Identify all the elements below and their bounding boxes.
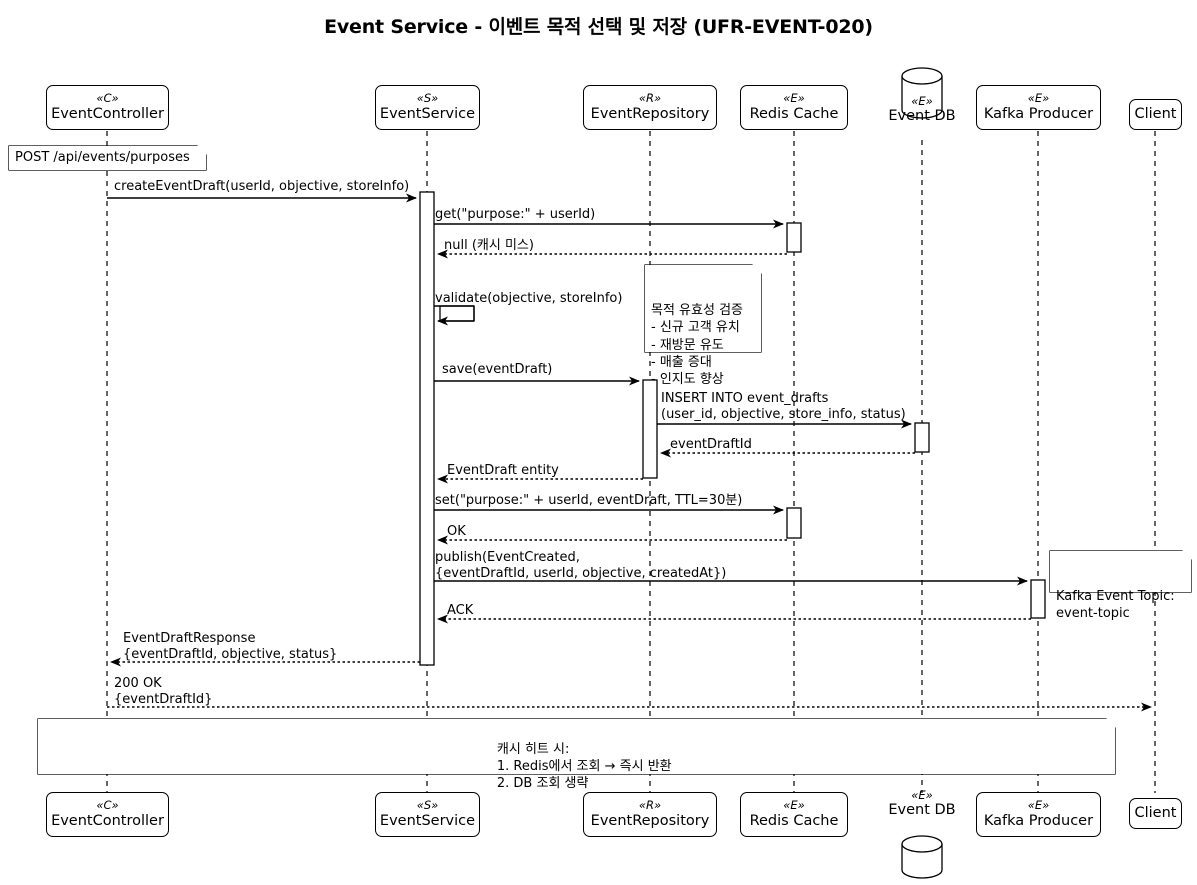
participant-kafka-top[interactable]: «E» Kafka Producer xyxy=(976,85,1101,130)
participant-kafka-bottom[interactable]: «E» Kafka Producer xyxy=(976,792,1101,837)
participant-stereotype: «E» xyxy=(862,789,982,802)
participant-name: Client xyxy=(1135,805,1177,822)
participant-name: Redis Cache xyxy=(750,106,839,123)
participant-stereotype: «E» xyxy=(1028,799,1049,812)
participant-stereotype: «R» xyxy=(639,92,661,105)
participant-controller-bottom[interactable]: «C» EventController xyxy=(46,792,169,837)
participant-name: Kafka Producer xyxy=(984,813,1093,830)
message-label-save: save(eventDraft) xyxy=(442,362,552,378)
participant-client-bottom[interactable]: Client xyxy=(1129,798,1182,829)
participant-name: EventService xyxy=(380,106,475,123)
note-cache-text: 캐시 히트 시: 1. Redis에서 조회 → 즉시 반환 2. DB 조회 … xyxy=(497,741,672,792)
message-label-validate: validate(objective, storeInfo) xyxy=(435,291,622,307)
participant-name: EventRepository xyxy=(591,106,710,123)
activation-service-self xyxy=(440,306,474,321)
message-label-ok: OK xyxy=(447,524,466,540)
message-label-redis-get: get("purpose:" + userId) xyxy=(435,207,595,223)
participant-controller-top[interactable]: «C» EventController xyxy=(46,85,169,130)
note-kafka-topic: Kafka Event Topic: event-topic xyxy=(1050,551,1191,592)
participant-stereotype: «C» xyxy=(96,92,118,105)
activation-redis-1 xyxy=(787,223,801,252)
note-post-text: POST /api/events/purposes xyxy=(15,149,190,166)
participant-service-top[interactable]: «S» EventService xyxy=(375,85,480,130)
message-label-publish: publish(EventCreated, {eventDraftId, use… xyxy=(435,550,726,582)
participant-stereotype: «E» xyxy=(862,95,982,108)
participant-stereotype: «S» xyxy=(417,799,439,812)
participant-stereotype: «S» xyxy=(417,92,439,105)
sequence-diagram: Event Service - 이벤트 목적 선택 및 저장 (UFR-EVEN… xyxy=(0,0,1197,885)
message-label-cache-miss: null (캐시 미스) xyxy=(444,238,534,254)
participant-name: Event DB xyxy=(862,108,982,125)
message-label-200-ok: 200 OK {eventDraftId} xyxy=(114,676,212,708)
participant-stereotype: «E» xyxy=(783,92,804,105)
activation-kafka-1 xyxy=(1031,580,1045,618)
participant-name: EventService xyxy=(380,813,475,830)
lifelines xyxy=(107,131,1155,793)
message-label-event-draft-id: eventDraftId xyxy=(670,437,752,453)
note-cache-hit: 캐시 히트 시: 1. Redis에서 조회 → 즉시 반환 2. DB 조회 … xyxy=(38,719,1115,774)
participant-stereotype: «R» xyxy=(639,799,661,812)
participant-name: Kafka Producer xyxy=(984,106,1093,123)
participant-redis-top[interactable]: «E» Redis Cache xyxy=(740,85,848,130)
participant-repository-bottom[interactable]: «R» EventRepository xyxy=(583,792,717,837)
activation-redis-2 xyxy=(787,508,801,538)
note-post-endpoint: POST /api/events/purposes xyxy=(9,146,206,170)
activation-bars xyxy=(420,192,1045,665)
participant-name: EventController xyxy=(51,106,164,123)
participant-name: EventRepository xyxy=(591,813,710,830)
participant-stereotype: «E» xyxy=(783,799,804,812)
note-kafka-text: Kafka Event Topic: event-topic xyxy=(1056,588,1184,622)
participant-stereotype: «C» xyxy=(96,799,118,812)
participant-redis-bottom[interactable]: «E» Redis Cache xyxy=(740,792,848,837)
participant-eventdb-bottom[interactable]: «E» Event DB xyxy=(862,789,982,819)
activation-eventdb-1 xyxy=(915,423,929,452)
participant-eventdb-top[interactable]: «E» Event DB xyxy=(862,95,982,125)
message-label-event-draft-response: EventDraftResponse {eventDraftId, object… xyxy=(123,631,337,663)
message-label-event-draft-entity: EventDraft entity xyxy=(447,463,559,479)
participant-stereotype: «E» xyxy=(1028,92,1049,105)
participant-repository-top[interactable]: «R» EventRepository xyxy=(583,85,717,130)
message-label-redis-set: set("purpose:" + userId, eventDraft, TTL… xyxy=(435,493,742,509)
participant-name: Event DB xyxy=(862,802,982,819)
participant-service-bottom[interactable]: «S» EventService xyxy=(375,792,480,837)
eventdb-cylinder-bottom xyxy=(902,836,942,878)
note-objective-validation: 목적 유효성 검증 - 신규 고객 유치 - 재방문 유도 - 매출 증대 - … xyxy=(645,265,761,352)
participant-name: Redis Cache xyxy=(750,813,839,830)
activation-service xyxy=(420,192,434,665)
message-label-ack: ACK xyxy=(447,603,473,619)
participant-name: EventController xyxy=(51,813,164,830)
message-label-create-event-draft: createEventDraft(userId, objective, stor… xyxy=(114,179,409,195)
note-validate-text: 목적 유효성 검증 - 신규 고객 유치 - 재방문 유도 - 매출 증대 - … xyxy=(651,302,754,388)
participant-name: Client xyxy=(1135,106,1177,123)
participant-client-top[interactable]: Client xyxy=(1129,99,1182,130)
